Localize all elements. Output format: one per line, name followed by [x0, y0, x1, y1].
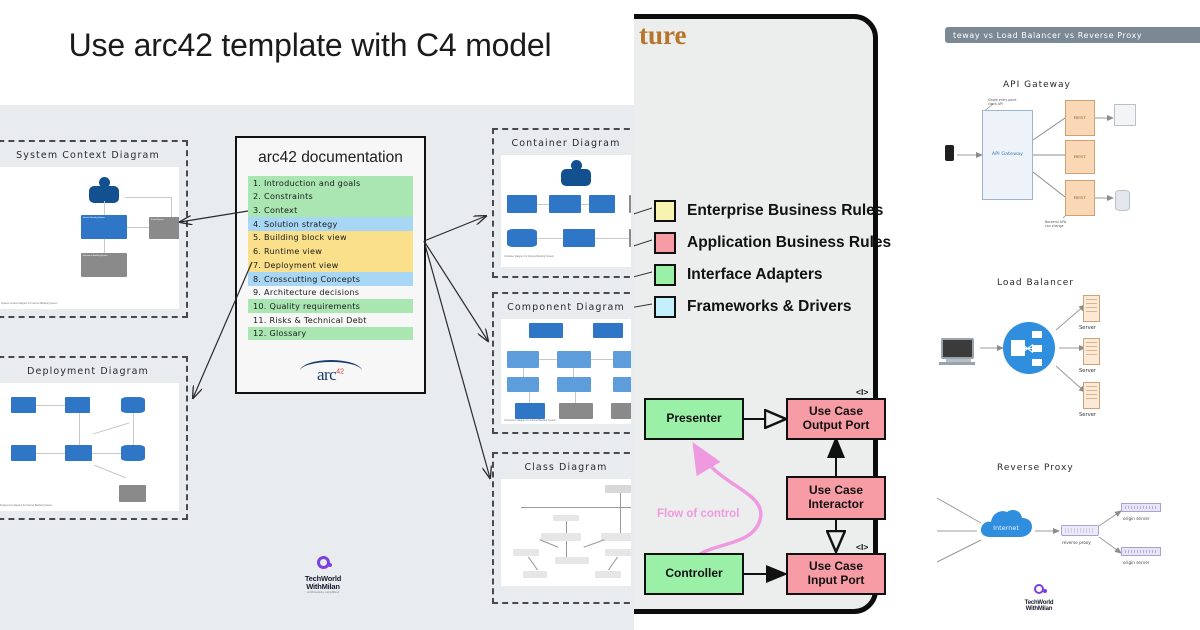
arc42-item[interactable]: 8. Crosscutting Concepts [248, 272, 413, 286]
techworld-logo-icon [1034, 584, 1044, 594]
watermark-techworld-withmilan: TechWorld WithMilan [1009, 582, 1069, 612]
api-gateway-box: API Gateway [982, 110, 1033, 200]
diagram-card-component: Component Diagram Component diag [492, 292, 634, 434]
arc42-item[interactable]: 10. Quality requirements [248, 299, 413, 313]
arc42-logo-sup: 42 [336, 369, 344, 376]
arc42-item[interactable]: 4. Solution strategy [248, 217, 413, 231]
left-panel-arc42-c4: Use arc42 template with C4 model System … [0, 0, 634, 630]
controller-box: Controller [644, 553, 744, 595]
arc42-logo-word: arc [317, 365, 336, 384]
use-case-input-port-box: Use CaseInput Port [786, 553, 886, 595]
architecture-legend: Enterprise Business Rules Application Bu… [654, 195, 891, 323]
annotation-single-entry-point: Single entry point client API [988, 98, 1016, 107]
diagram-card-class: Class Diagram [492, 452, 634, 604]
arc42-item[interactable]: 1. Introduction and goals [248, 176, 413, 190]
legend-item: Application Business Rules [654, 227, 891, 259]
diagram-label: Container Diagram [494, 130, 634, 155]
rest-label: REST [1066, 154, 1094, 159]
legend-label: Frameworks & Drivers [687, 298, 852, 316]
middle-panel-clean-architecture: ture Enterprise Business Rules Applicati… [634, 0, 925, 630]
presenter-box: Presenter [644, 398, 744, 440]
diagram-thumbnail: Deployment diagram for Internet Banking … [0, 383, 179, 511]
arc42-item[interactable]: 7. Deployment view [248, 258, 413, 272]
backend-service-box [1114, 104, 1136, 126]
watermark-line2: WithMilan [288, 583, 358, 591]
origin-server-icon [1121, 547, 1161, 556]
legend-label: Enterprise Business Rules [687, 202, 883, 220]
desktop-computer-icon [941, 338, 975, 365]
watermark-line2: WithMilan [1009, 606, 1069, 612]
legend-item: Enterprise Business Rules [654, 195, 891, 227]
legend-swatch-icon [654, 264, 676, 286]
server-icon [1083, 338, 1100, 365]
diagram-thumbnail [501, 479, 631, 586]
svg-text:Internet: Internet [993, 524, 1019, 532]
section-title-reverse-proxy: Reverse Proxy [997, 463, 1074, 473]
section-title-load-balancer: Load Balancer [997, 278, 1074, 288]
arc42-section-list: 1. Introduction and goals 2. Constraints… [237, 176, 424, 340]
rest-service-box: REST [1065, 100, 1095, 136]
diagram-label: Deployment Diagram [0, 358, 186, 383]
diagram-label: Class Diagram [494, 454, 634, 479]
flow-of-control-diagram: Presenter Use CaseOutput Port <I> Use Ca… [634, 370, 925, 605]
arc42-documentation-card: arc42 documentation 1. Introduction and … [235, 136, 426, 394]
diagram-thumbnail: Internet Banking System E-mail System Ma… [0, 167, 179, 309]
arc42-logo: arc42 [237, 360, 424, 385]
interface-marker-output: <I> [856, 387, 868, 397]
section-title-api-gateway: API Gateway [1003, 80, 1071, 90]
rest-label: REST [1066, 195, 1094, 200]
presenter-label: Presenter [666, 412, 721, 426]
clean-architecture-title: ture [639, 20, 687, 51]
server-label: Server [1079, 412, 1096, 418]
diagram-thumbnail: Component diagram for Internet Banking S… [501, 319, 631, 424]
use-case-input-port-label: Use CaseInput Port [808, 560, 865, 588]
internet-cloud-icon: Internet [977, 505, 1035, 541]
server-label: Server [1079, 368, 1096, 374]
arc42-item[interactable]: 12. Glossary [248, 327, 413, 341]
arc42-item[interactable]: 6. Runtime view [248, 245, 413, 259]
watermark-techworld-withmilan: TechWorld WithMilan architecture simplif… [288, 556, 358, 594]
origin-server-label: origin server [1123, 516, 1150, 521]
rest-service-box: REST [1065, 140, 1095, 174]
rest-label: REST [1066, 115, 1094, 120]
diagram-card-deployment: Deployment Diagram Deployment diagram fo… [0, 356, 188, 520]
use-case-output-port-box: Use CaseOutput Port [786, 398, 886, 440]
arc42-item[interactable]: 11. Risks & Technical Debt [248, 313, 413, 327]
flow-of-control-label: Flow of control [657, 508, 739, 520]
legend-swatch-icon [654, 200, 676, 222]
api-gateway-label: API Gateway [983, 152, 1032, 157]
interface-marker-input: <I> [856, 542, 868, 552]
annotation-backend-apis: Backend APIs can change [1045, 220, 1066, 229]
watermark-tagline: architecture simplified [288, 591, 358, 594]
right-panel-gateway-lb-proxy: teway vs Load Balancer vs Reverse Proxy [925, 0, 1200, 630]
diagram-label: Component Diagram [494, 294, 634, 319]
arc42-item[interactable]: 9. Architecture decisions [248, 286, 413, 300]
arc42-item[interactable]: 3. Context [248, 203, 413, 217]
use-case-interactor-label: Use CaseInteractor [808, 484, 863, 512]
use-case-interactor-box: Use CaseInteractor [786, 476, 886, 520]
server-icon [1083, 382, 1100, 409]
techworld-logo-icon [317, 556, 330, 569]
legend-item: Interface Adapters [654, 259, 891, 291]
reverse-proxy-box [1061, 525, 1099, 536]
reverse-proxy-label: reverse proxy [1062, 540, 1091, 545]
arc42-heading: arc42 documentation [237, 138, 424, 176]
diagram-label: System Context Diagram [0, 142, 186, 167]
client-device-icon [945, 145, 954, 161]
arc42-item[interactable]: 2. Constraints [248, 190, 413, 204]
screenshot-canvas: Use arc42 template with C4 model System … [0, 0, 1200, 630]
page-title: Use arc42 template with C4 model [0, 27, 620, 64]
server-icon [1083, 295, 1100, 322]
controller-label: Controller [665, 567, 722, 581]
legend-swatch-icon [654, 296, 676, 318]
use-case-output-port-label: Use CaseOutput Port [803, 405, 870, 433]
origin-server-label: origin server [1123, 560, 1150, 565]
legend-item: Frameworks & Drivers [654, 291, 891, 323]
legend-label: Interface Adapters [687, 266, 823, 284]
origin-server-icon [1121, 503, 1161, 512]
server-label: Server [1079, 325, 1096, 331]
diagram-card-system-context: System Context Diagram Internet Banking … [0, 140, 188, 318]
load-balancer-node [1003, 322, 1055, 374]
arc42-item[interactable]: 5. Building block view [248, 231, 413, 245]
legend-label: Application Business Rules [687, 234, 891, 252]
diagram-card-container: Container Diagram Container diagram for … [492, 128, 634, 278]
database-cylinder-icon [1115, 190, 1130, 211]
rest-service-box: REST [1065, 180, 1095, 216]
diagram-thumbnail: Container diagram for Internet Banking S… [501, 155, 631, 267]
legend-swatch-icon [654, 232, 676, 254]
